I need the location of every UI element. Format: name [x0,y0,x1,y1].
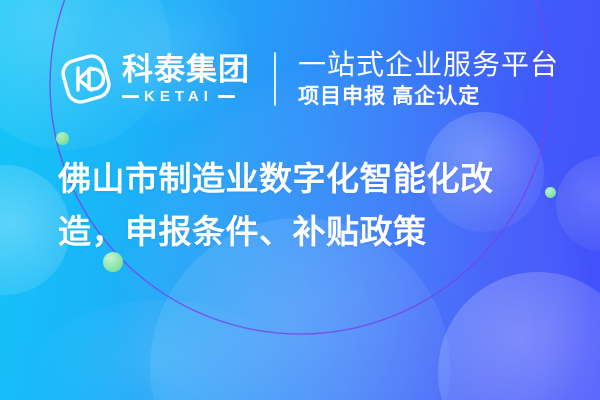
tagline-secondary: 项目申报 高企认定 [298,84,559,109]
promo-banner: 科泰集团 KETAI 一站式企业服务平台 项目申报 高企认定 佛山市制造业数字化… [0,0,600,400]
brand-rule-left-icon [122,95,139,98]
decor-circle-right-edge [556,156,600,252]
brand-wordmark: 科泰集团 KETAI [122,54,250,104]
headline: 佛山市制造业数字化智能化改造，申报条件、补贴政策 [58,152,558,259]
ketai-kd-monogram-icon [58,51,114,107]
tagline-group: 一站式企业服务平台 项目申报 高企认定 [298,49,559,110]
decor-band-lower-left [30,300,290,400]
decor-circle-right-big [438,272,600,400]
brand-name-en-row: KETAI [122,89,250,104]
brand-logo[interactable]: 科泰集团 KETAI [58,51,250,107]
header-divider [274,52,276,106]
brand-name-cn: 科泰集团 [122,54,250,86]
brand-rule-right-icon [218,95,235,98]
banner-header: 科泰集团 KETAI 一站式企业服务平台 项目申报 高企认定 [0,38,600,120]
brand-name-en: KETAI [144,89,213,104]
decor-dot-green-upper-left [56,132,69,145]
tagline-primary: 一站式企业服务平台 [298,49,559,80]
headline-line-2: ，申报条件、补贴政策 [92,213,427,250]
